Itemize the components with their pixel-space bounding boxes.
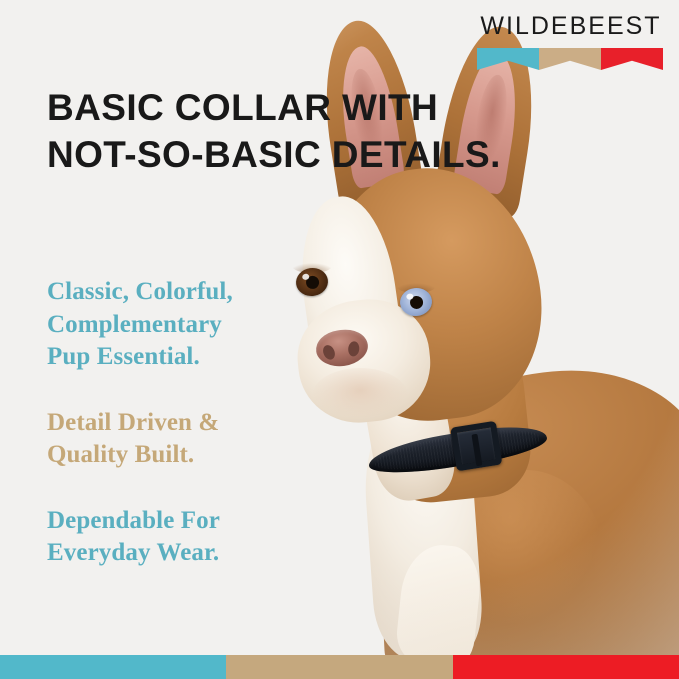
feature-item-2: Detail Driven & Quality Built. [47,407,317,472]
feature-item-3: Dependable For Everyday Wear. [47,505,317,570]
bottom-bar-segment-red [453,655,679,679]
feature-1-line-2: Complementary [47,309,317,342]
headline: BASIC COLLAR WITH NOT-SO-BASIC DETAILS. [47,84,607,179]
feature-item-1: Classic, Colorful, Complementary Pup Ess… [47,276,317,374]
collar-buckle [450,421,502,472]
feature-2-line-1: Detail Driven & [47,407,317,440]
feature-2-line-2: Quality Built. [47,439,317,472]
brand-logo: WILDEBEEST [477,14,663,70]
brand-banner-segment-tan [539,48,601,70]
nostril-left [321,343,337,361]
headline-line-2: NOT-SO-BASIC DETAILS. [47,131,607,178]
collar-buckle-bar [471,434,482,467]
feature-list: Classic, Colorful, Complementary Pup Ess… [47,276,317,570]
feature-3-line-2: Everyday Wear. [47,537,317,570]
feature-3-line-1: Dependable For [47,505,317,538]
bottom-color-bar [0,655,679,679]
brand-banner-segment-red [601,48,663,70]
bottom-bar-segment-tan [226,655,452,679]
brand-banner [477,48,663,70]
dog-muzzle-shading [312,368,408,424]
brand-banner-segment-teal [477,48,539,70]
brand-wordmark: WILDEBEEST [477,14,663,39]
headline-line-1: BASIC COLLAR WITH [47,84,607,131]
feature-1-line-1: Classic, Colorful, [47,276,317,309]
product-marketing-image: WILDEBEEST BASIC COLLAR WITH NOT-SO-BASI… [0,0,679,679]
bottom-bar-segment-teal [0,655,226,679]
feature-1-line-3: Pup Essential. [47,341,317,374]
nostril-right [347,341,360,357]
